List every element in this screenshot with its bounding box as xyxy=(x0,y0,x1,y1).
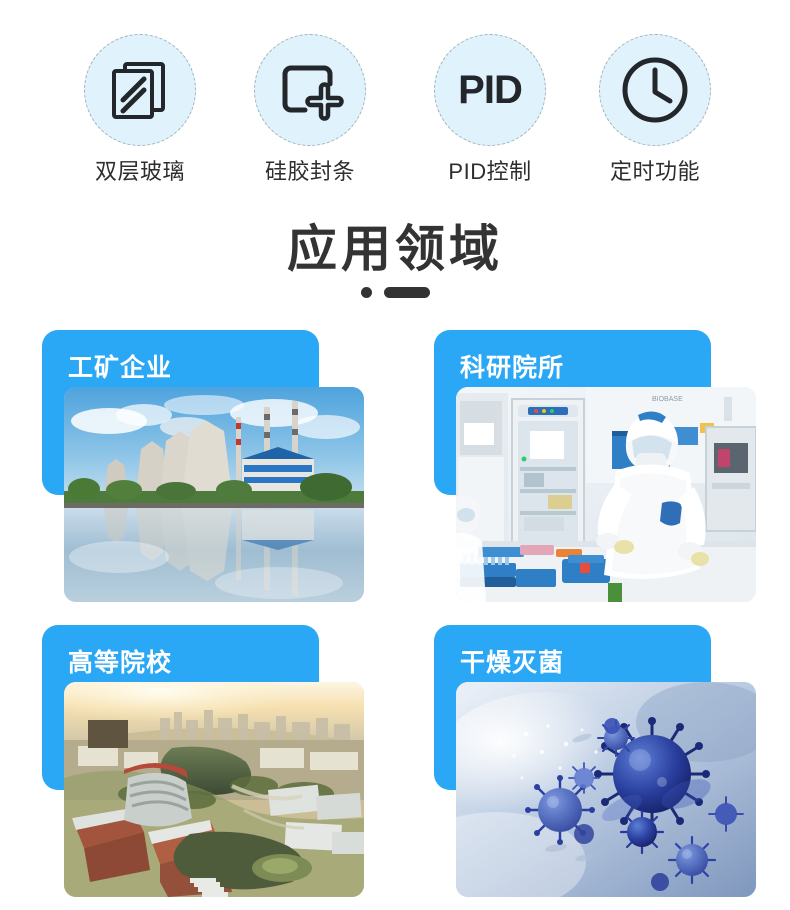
card-photo-laboratory: BIOBASE xyxy=(456,387,756,602)
card-banner-label: 科研院所 xyxy=(460,348,564,384)
feature-label: 硅胶封条 xyxy=(235,160,385,184)
feature-icon-circle xyxy=(599,34,711,146)
application-card[interactable]: 科研院所 xyxy=(434,330,789,615)
card-banner-label: 干燥灭菌 xyxy=(460,643,564,679)
pid-text-icon: PID xyxy=(458,68,522,113)
card-banner-label: 工矿企业 xyxy=(68,348,172,384)
card-photo-power-plant xyxy=(64,387,364,602)
feature-icon-circle xyxy=(84,34,196,146)
feature-item-timer[interactable]: 定时功能 xyxy=(580,34,730,184)
accent-dot-icon xyxy=(361,287,372,298)
application-fields-grid: 工矿企业 xyxy=(0,330,790,904)
feature-label: PID控制 xyxy=(415,160,565,184)
feature-icon-circle xyxy=(254,34,366,146)
feature-item-silicone-seal[interactable]: 硅胶封条 xyxy=(235,34,385,184)
feature-label: 定时功能 xyxy=(580,160,730,184)
features-row: 双层玻璃 硅胶封条 PID PID控制 xyxy=(0,0,790,215)
silicone-seal-icon xyxy=(274,54,346,126)
svg-text:BIOBASE: BIOBASE xyxy=(652,396,683,403)
clock-icon xyxy=(618,53,692,127)
accent-bar-icon xyxy=(384,287,430,298)
feature-item-pid-control[interactable]: PID PID控制 xyxy=(415,34,565,184)
title-accent-decoration xyxy=(0,286,790,298)
card-photo-campus xyxy=(64,682,364,897)
double-glass-icon xyxy=(104,54,176,126)
card-photo-microbes xyxy=(456,682,756,897)
feature-item-double-glass[interactable]: 双层玻璃 xyxy=(65,34,215,184)
application-card[interactable]: 工矿企业 xyxy=(42,330,397,615)
application-card[interactable]: 高等院校 xyxy=(42,625,397,910)
section-title-block: 应用领域 xyxy=(0,222,790,298)
application-card[interactable]: 干燥灭菌 xyxy=(434,625,789,910)
feature-label: 双层玻璃 xyxy=(65,160,215,184)
page-title: 应用领域 xyxy=(0,222,790,276)
card-banner-label: 高等院校 xyxy=(68,643,172,679)
feature-icon-circle: PID xyxy=(434,34,546,146)
